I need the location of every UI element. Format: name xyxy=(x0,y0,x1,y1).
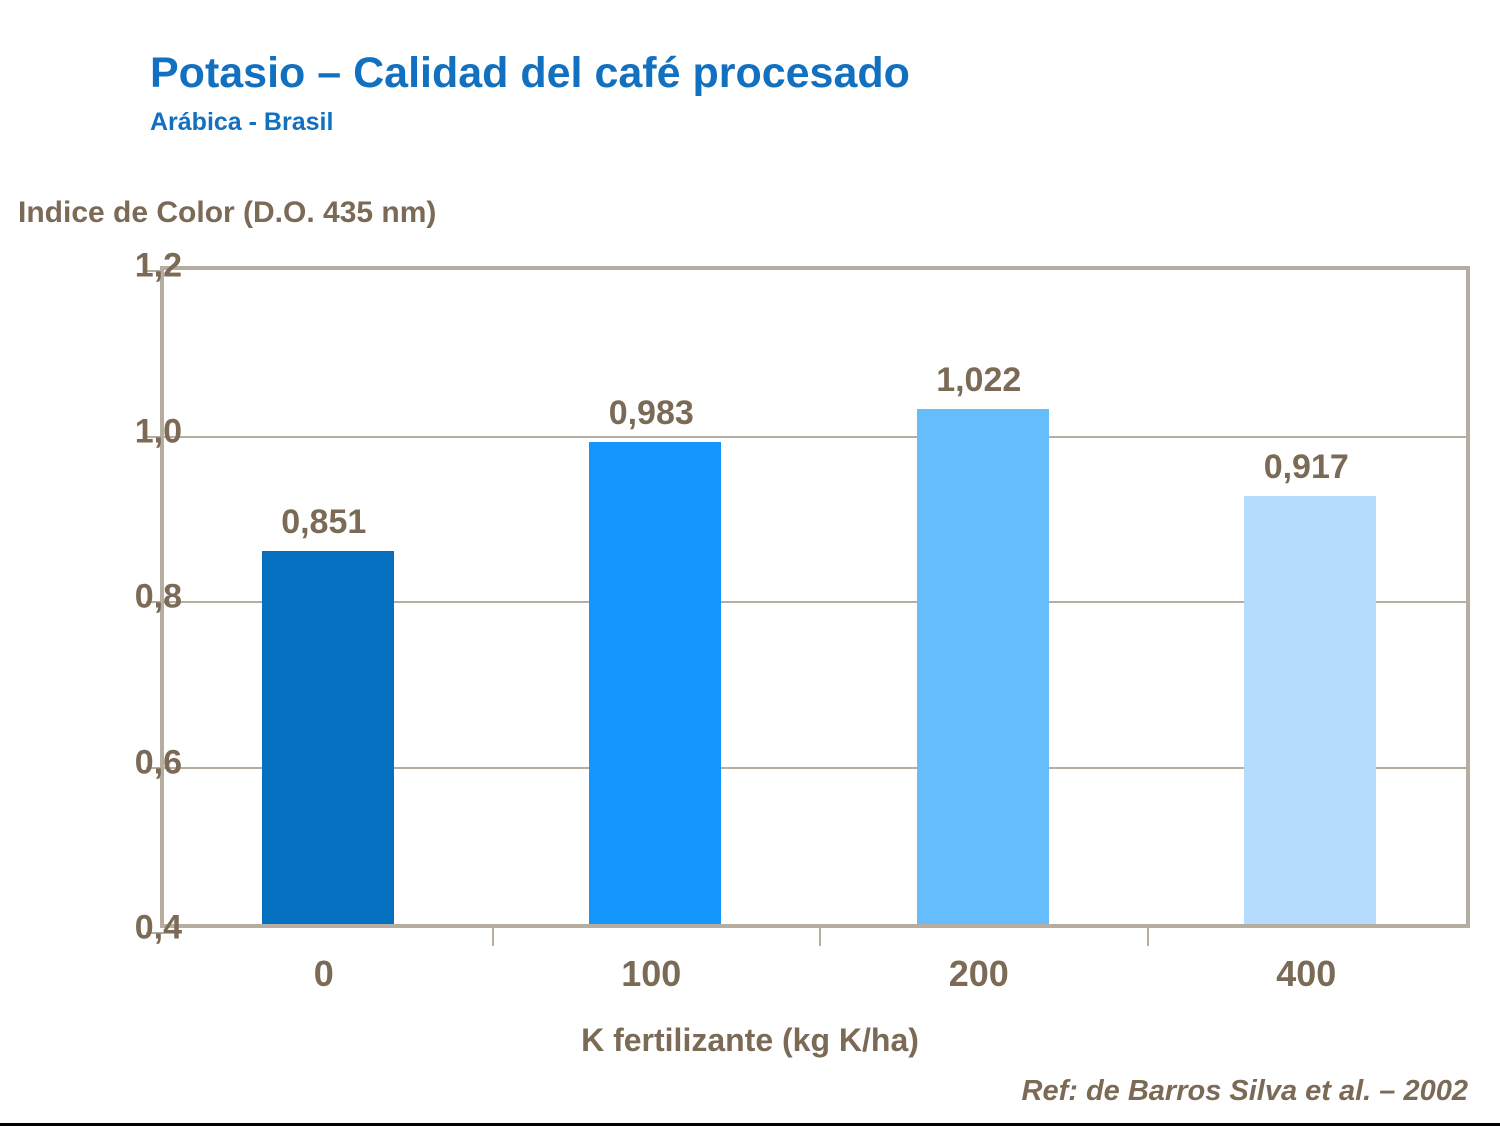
y-tick-label: 0,4 xyxy=(135,909,182,948)
bar-100[interactable] xyxy=(589,442,721,924)
y-tick-label: 1,0 xyxy=(135,412,182,451)
category-separator xyxy=(1147,924,1149,946)
page-subtitle: Arábica - Brasil xyxy=(150,108,910,137)
y-axis-title: Indice de Color (D.O. 435 nm) xyxy=(18,196,436,230)
x-tick-label: 400 xyxy=(1276,953,1336,995)
bar-0[interactable] xyxy=(262,551,394,924)
bar-400[interactable] xyxy=(1244,496,1376,924)
page-title: Potasio – Calidad del café procesado xyxy=(150,52,910,95)
reference-note: Ref: de Barros Silva et al. – 2002 xyxy=(1022,1075,1469,1108)
gridline xyxy=(164,436,1466,438)
bar-200[interactable] xyxy=(917,409,1049,924)
category-separator xyxy=(492,924,494,946)
bar-value-label: 0,917 xyxy=(1196,448,1416,487)
bar-value-label: 0,851 xyxy=(214,503,434,542)
y-tick-label: 0,8 xyxy=(135,578,182,617)
y-tick-label: 0,6 xyxy=(135,743,182,782)
x-tick-label: 200 xyxy=(949,953,1009,995)
bar-value-label: 0,983 xyxy=(541,394,761,433)
category-separator xyxy=(819,924,821,946)
y-tick-label: 1,2 xyxy=(135,247,182,286)
plot-area xyxy=(160,266,1470,928)
title-block: Potasio – Calidad del café procesado Ará… xyxy=(150,52,910,137)
x-tick-label: 0 xyxy=(314,953,334,995)
bar-value-label: 1,022 xyxy=(869,361,1089,400)
x-tick-label: 100 xyxy=(621,953,681,995)
x-axis-title: K fertilizante (kg K/ha) xyxy=(0,1022,1500,1059)
